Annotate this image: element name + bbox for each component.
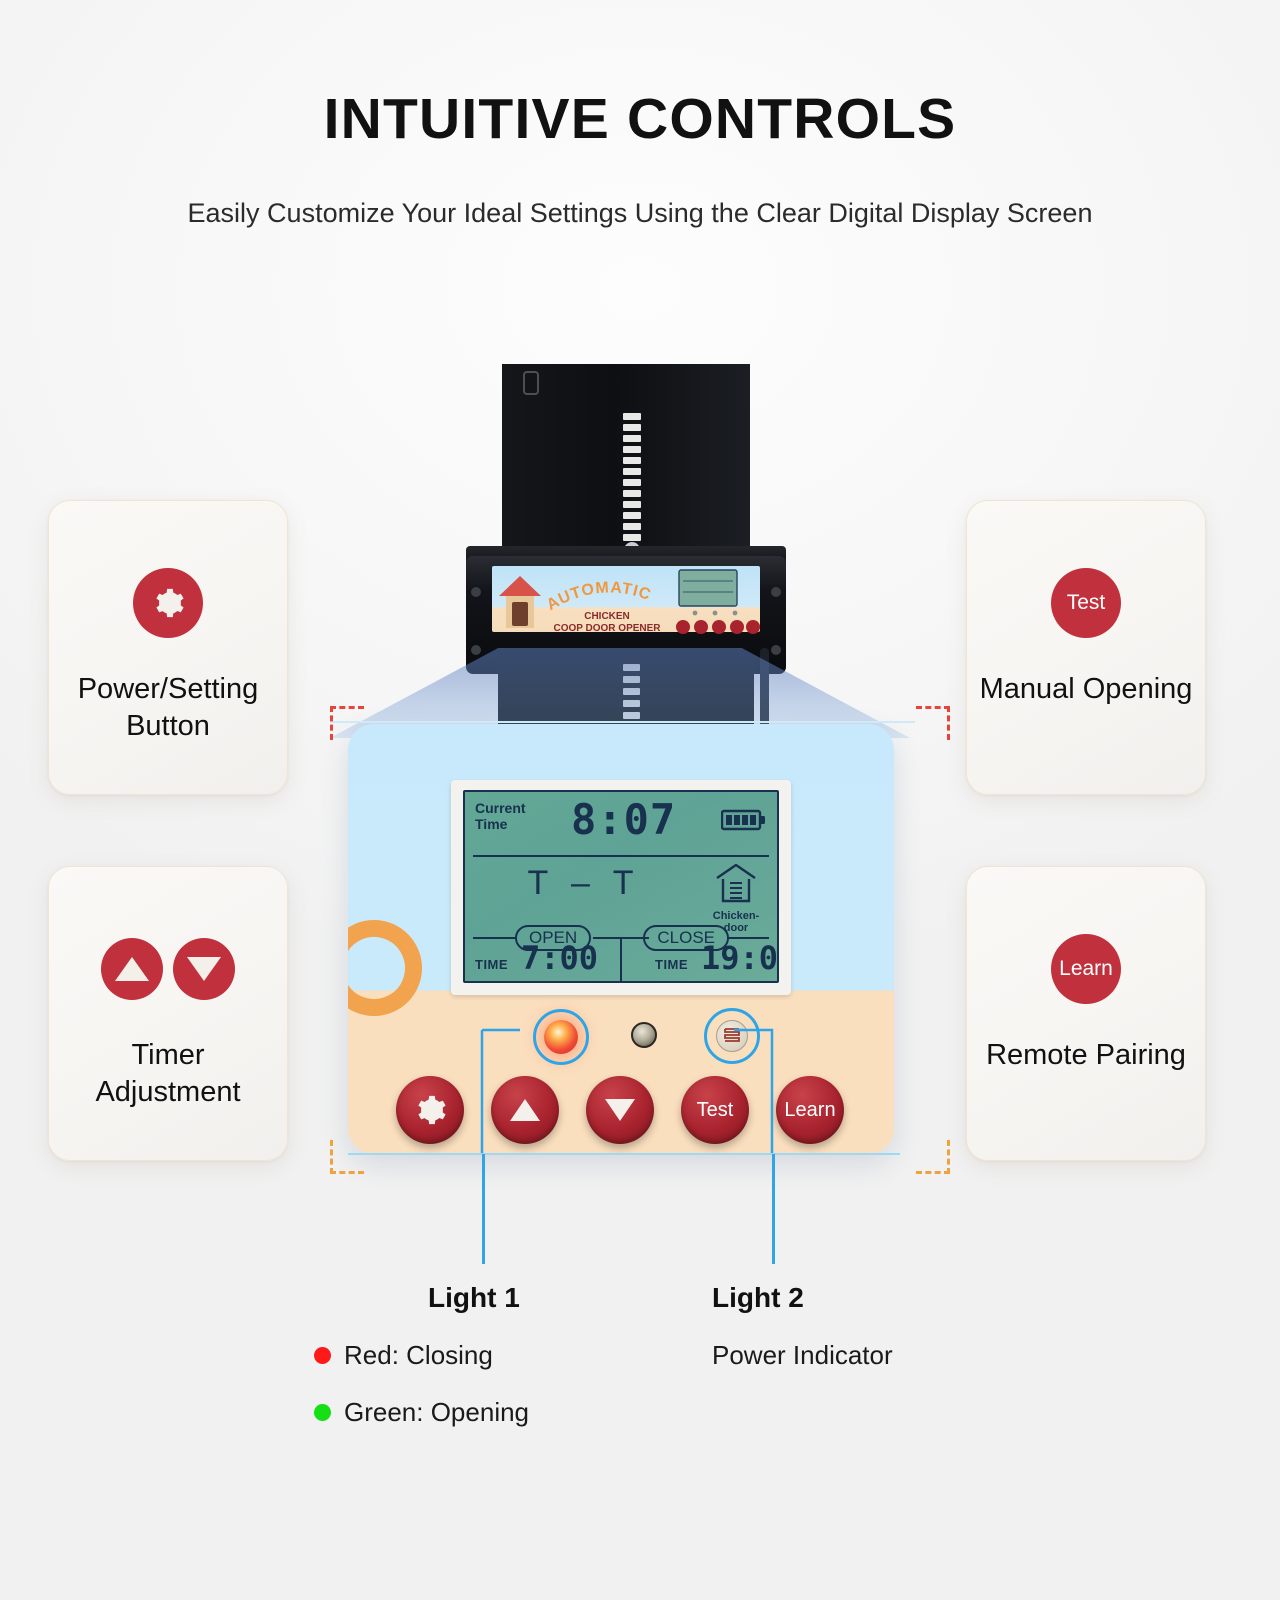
card-manual-opening[interactable]: Test Manual Opening xyxy=(966,500,1206,795)
bracket-top-right xyxy=(916,706,950,740)
card-title: Remote Pairing xyxy=(978,1037,1194,1074)
page-title: INTUITIVE CONTROLS xyxy=(0,86,1280,152)
bracket-bottom-right xyxy=(916,1140,950,1174)
legend-light1: Light 1 Red: Closing Green: Opening xyxy=(300,1282,720,1428)
learn-button-label: Learn xyxy=(784,1099,835,1122)
current-time-value: 8:07 xyxy=(571,795,676,844)
triangle-up-icon xyxy=(115,957,149,981)
bracket-bottom-left xyxy=(330,1140,364,1174)
svg-text:CHICKEN: CHICKEN xyxy=(584,611,630,622)
learn-badge: Learn xyxy=(1051,934,1121,1004)
triangle-down-icon xyxy=(187,957,221,981)
legend-light1-title: Light 1 xyxy=(300,1282,720,1314)
legend-item-red: Red: Closing xyxy=(300,1340,720,1371)
schedule-row: TIME 7:00 TIME 19:00 xyxy=(473,935,769,977)
current-time-label: Current Time xyxy=(475,800,526,832)
gear-icon xyxy=(151,586,185,620)
down-arrow-badge xyxy=(173,938,235,1000)
chicken-door-indicator: Chicken-door xyxy=(705,862,767,934)
test-badge: Test xyxy=(1051,568,1121,638)
open-time-label: TIME xyxy=(475,957,508,972)
svg-text:AUTOMATIC: AUTOMATIC xyxy=(544,579,654,614)
legend-item-green: Green: Opening xyxy=(300,1397,720,1428)
microphone-sensor xyxy=(631,1022,657,1048)
battery-icon xyxy=(721,809,767,831)
card-title: Manual Opening xyxy=(972,671,1201,708)
test-button-label: Test xyxy=(697,1099,734,1122)
up-button[interactable] xyxy=(491,1076,559,1144)
red-dot-icon xyxy=(314,1347,331,1364)
card-icon: Test xyxy=(1051,559,1121,647)
card-icon xyxy=(133,559,203,647)
card-title: Power/Setting Button xyxy=(49,671,287,745)
close-time-label: TIME xyxy=(655,957,688,972)
zoomed-control-panel: Current Time 8:07 T – T xyxy=(348,724,894,1154)
card-title: Timer Adjustment xyxy=(49,1037,287,1111)
lcd-divider xyxy=(473,855,769,857)
down-button[interactable] xyxy=(586,1076,654,1144)
close-time-value: 19:00 xyxy=(701,939,779,977)
green-dot-icon xyxy=(314,1404,331,1421)
card-remote-pairing[interactable]: Learn Remote Pairing xyxy=(966,866,1206,1161)
decorative-arc xyxy=(348,903,439,1033)
card-icon: Learn xyxy=(1051,925,1121,1013)
light2-leader-line xyxy=(772,1154,775,1264)
gear-icon xyxy=(413,1093,447,1127)
lcd-bezel: Current Time 8:07 T – T xyxy=(451,780,791,995)
triangle-down-icon xyxy=(605,1099,635,1121)
svg-text:COOP DOOR OPENER: COOP DOOR OPENER xyxy=(553,623,661,634)
light1-leader-line xyxy=(482,1154,485,1264)
triangle-up-icon xyxy=(510,1099,540,1121)
page-subtitle: Easily Customize Your Ideal Settings Usi… xyxy=(0,198,1280,229)
test-button[interactable]: Test xyxy=(681,1076,749,1144)
bracket-top-left xyxy=(330,706,364,740)
lcd-screen: Current Time 8:07 T – T xyxy=(463,790,779,983)
open-time-value: 7:00 xyxy=(521,939,598,977)
card-power-setting[interactable]: Power/Setting Button xyxy=(48,500,288,795)
card-icon xyxy=(101,925,235,1013)
learn-button[interactable]: Learn xyxy=(776,1076,844,1144)
legend-light2: Light 2 Power Indicator xyxy=(712,1282,1132,1371)
learn-badge-label: Learn xyxy=(1059,957,1113,981)
led-light-1-highlight-ring xyxy=(533,1009,589,1065)
legend-item-green-text: Green: Opening xyxy=(344,1397,529,1428)
legend-item-red-text: Red: Closing xyxy=(344,1340,493,1371)
legend-light2-description: Power Indicator xyxy=(712,1340,1132,1371)
up-arrow-badge xyxy=(101,938,163,1000)
settings-button[interactable] xyxy=(396,1076,464,1144)
coop-house-icon xyxy=(713,862,759,904)
light-sensor-highlight-ring xyxy=(704,1008,760,1064)
legend-light2-title: Light 2 xyxy=(712,1282,1132,1314)
card-timer-adjustment[interactable]: Timer Adjustment xyxy=(48,866,288,1161)
gear-badge xyxy=(133,568,203,638)
test-badge-label: Test xyxy=(1067,591,1106,615)
